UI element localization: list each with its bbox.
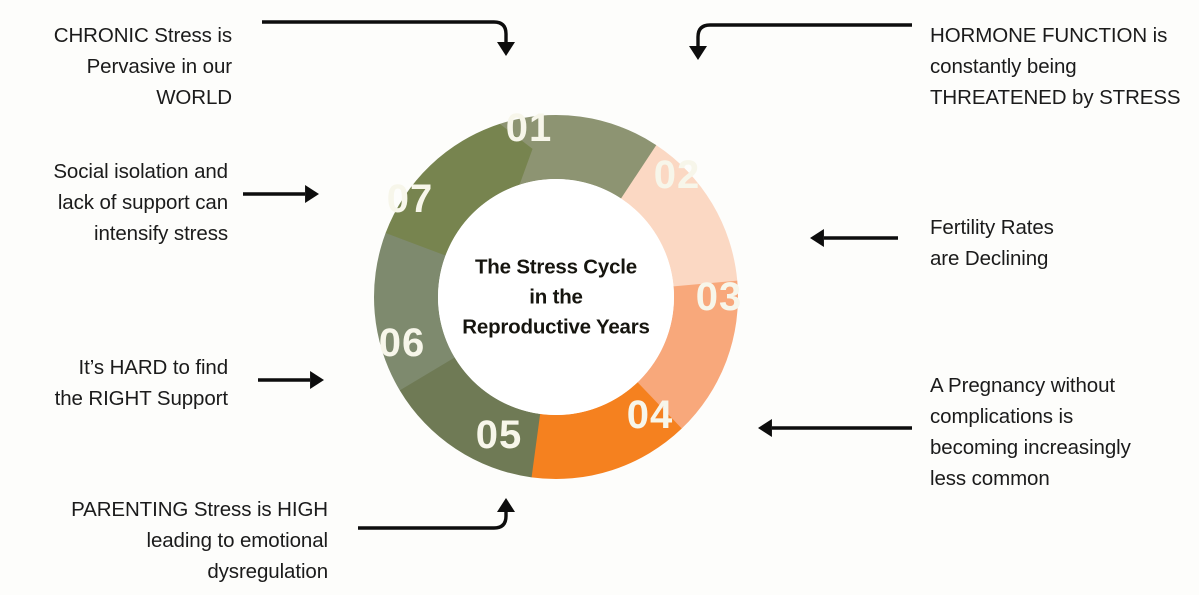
connector-line-01 — [262, 22, 506, 44]
connector-arrowhead-06 — [310, 371, 324, 389]
segment-number-06: 06 — [379, 321, 426, 365]
hub-text-line-2: in the — [529, 286, 582, 309]
hub-text-line-1: The Stress Cycle — [475, 256, 637, 279]
connector-arrowhead-02 — [689, 46, 707, 60]
segment-number-03: 03 — [696, 275, 743, 319]
segment-number-01: 01 — [506, 106, 553, 150]
segment-number-04: 04 — [627, 393, 674, 437]
connector-arrowhead-03 — [810, 229, 824, 247]
infographic-canvas: 01020304050607 The Stress Cyclein theRep… — [0, 0, 1199, 595]
connector-line-02 — [698, 25, 912, 48]
connector-arrowhead-07 — [305, 185, 319, 203]
connector-line-05 — [358, 510, 506, 528]
segment-number-05: 05 — [476, 413, 523, 457]
callout-02: HORMONE FUNCTION is constantly being THR… — [930, 20, 1192, 113]
connector-arrowhead-05 — [497, 498, 515, 512]
connector-arrowhead-04 — [758, 419, 772, 437]
segment-number-02: 02 — [654, 153, 701, 197]
connector-arrowhead-01 — [497, 42, 515, 56]
callout-03: Fertility Rates are Declining — [930, 212, 1192, 274]
hub-text-line-3: Reproductive Years — [462, 316, 649, 339]
callout-07: Social isolation and lack of support can… — [6, 156, 228, 249]
callout-04: A Pregnancy without complications is bec… — [930, 370, 1192, 495]
callout-05: PARENTING Stress is HIGH leading to emot… — [38, 494, 328, 587]
callout-06: It’s HARD to find the RIGHT Support — [30, 352, 228, 414]
segment-number-07: 07 — [387, 177, 434, 221]
callout-01: CHRONIC Stress is Pervasive in our WORLD — [10, 20, 232, 113]
